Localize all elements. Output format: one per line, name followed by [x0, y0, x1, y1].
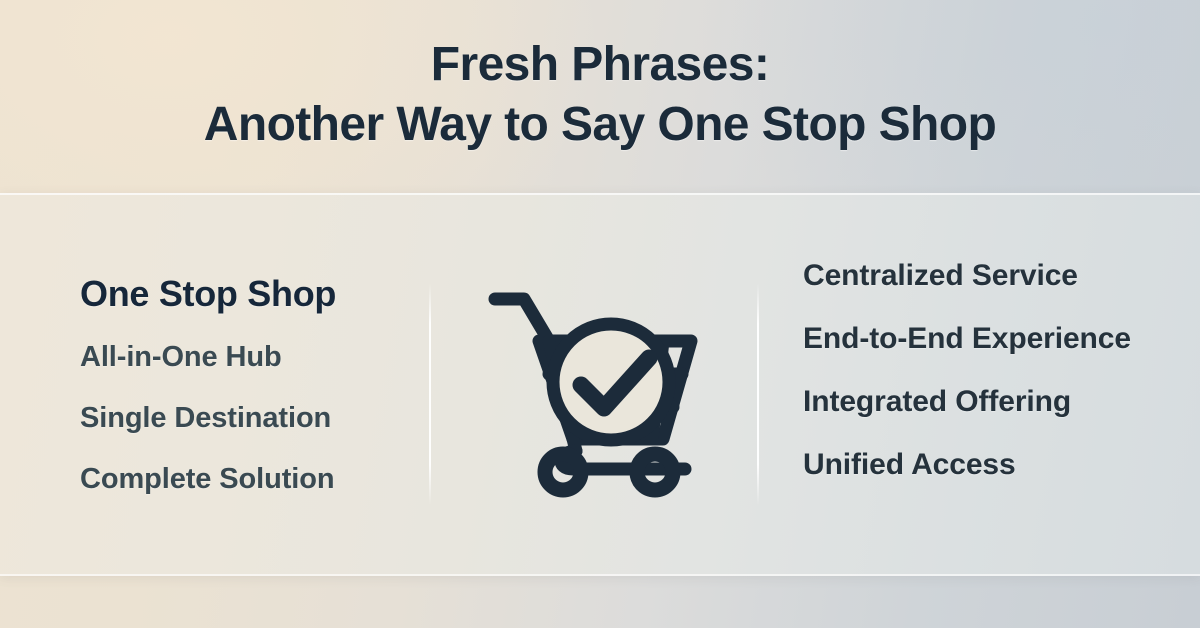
- list-item: Unified Access: [803, 448, 1200, 482]
- page-title: Fresh Phrases: Another Way to Say One St…: [204, 41, 996, 153]
- list-item: Integrated Offering: [803, 385, 1200, 419]
- title-line-1: Fresh Phrases:: [204, 41, 996, 89]
- list-item: Complete Solution: [80, 463, 429, 496]
- list-item: Single Destination: [80, 402, 429, 435]
- center-icon-column: [429, 195, 757, 574]
- list-item: Centralized Service: [803, 259, 1200, 293]
- list-item: All-in-One Hub: [80, 341, 429, 374]
- content-panel: One Stop Shop All-in-One Hub Single Dest…: [0, 193, 1200, 576]
- header-band: Fresh Phrases: Another Way to Say One St…: [0, 0, 1200, 193]
- left-column-heading: One Stop Shop: [80, 273, 429, 315]
- right-phrase-column: Centralized Service End-to-End Experienc…: [757, 195, 1200, 574]
- cart-wheels: [531, 441, 691, 503]
- left-phrase-column: One Stop Shop All-in-One Hub Single Dest…: [0, 195, 429, 574]
- title-line-2: Another Way to Say One Stop Shop: [204, 101, 996, 149]
- infographic-poster: Fresh Phrases: Another Way to Say One St…: [0, 0, 1200, 628]
- list-item: End-to-End Experience: [803, 322, 1200, 356]
